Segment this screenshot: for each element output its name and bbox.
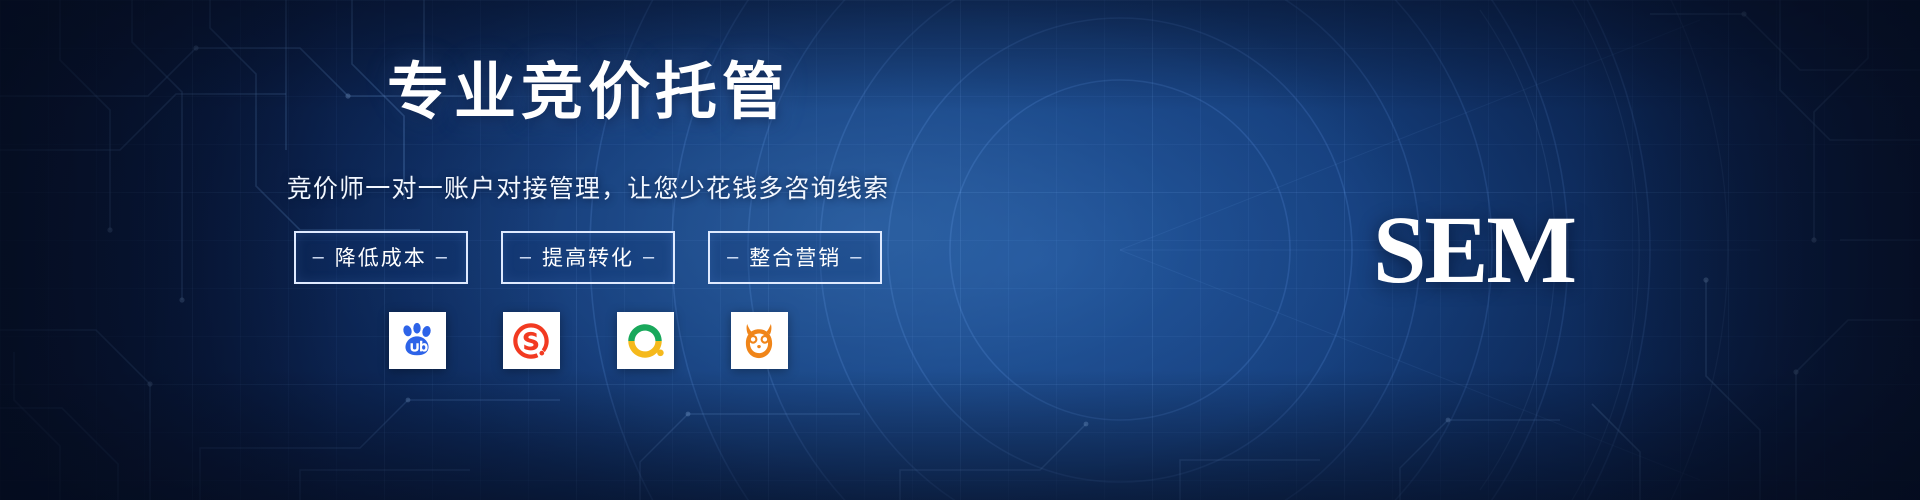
dash-right-icon: – <box>643 247 656 267</box>
banner-text-block: 专业竞价托管 竞价师一对一账户对接管理，让您少花钱多咨询线索 – 降低成本 – … <box>248 58 928 369</box>
sogou-logo-icon <box>510 320 552 362</box>
dash-left-icon: – <box>313 247 326 267</box>
feature-tag-cost-reduction[interactable]: – 降低成本 – <box>294 231 468 284</box>
feature-tag-label: 提高转化 <box>542 242 634 272</box>
dash-right-icon: – <box>436 247 449 267</box>
dash-right-icon: – <box>850 247 863 267</box>
sem-wordmark: SEM <box>1373 202 1575 298</box>
sem-hosting-banner: 专业竞价托管 竞价师一对一账户对接管理，让您少花钱多咨询线索 – 降低成本 – … <box>0 0 1920 500</box>
banner-subtitle: 竞价师一对一账户对接管理，让您少花钱多咨询线索 <box>287 169 890 205</box>
dash-left-icon: – <box>727 247 740 267</box>
baidu-logo-icon <box>396 320 438 362</box>
banner-title: 专业竞价托管 <box>387 58 789 127</box>
shenma-logo-icon <box>738 320 780 362</box>
dash-left-icon: – <box>520 247 533 267</box>
platform-logo-baidu[interactable] <box>389 312 446 369</box>
feature-tag-list: – 降低成本 – – 提高转化 – – 整合营销 – <box>294 231 883 284</box>
360-logo-icon <box>624 320 666 362</box>
feature-tag-integrated-marketing[interactable]: – 整合营销 – <box>708 231 882 284</box>
platform-logo-shenma[interactable] <box>731 312 788 369</box>
feature-tag-label: 降低成本 <box>335 242 427 272</box>
platform-logo-sogou[interactable] <box>503 312 560 369</box>
platform-logo-list <box>389 312 788 369</box>
banner-content: 专业竞价托管 竞价师一对一账户对接管理，让您少花钱多咨询线索 – 降低成本 – … <box>0 0 1920 500</box>
feature-tag-label: 整合营销 <box>749 242 841 272</box>
feature-tag-conversion[interactable]: – 提高转化 – <box>501 231 675 284</box>
platform-logo-360[interactable] <box>617 312 674 369</box>
